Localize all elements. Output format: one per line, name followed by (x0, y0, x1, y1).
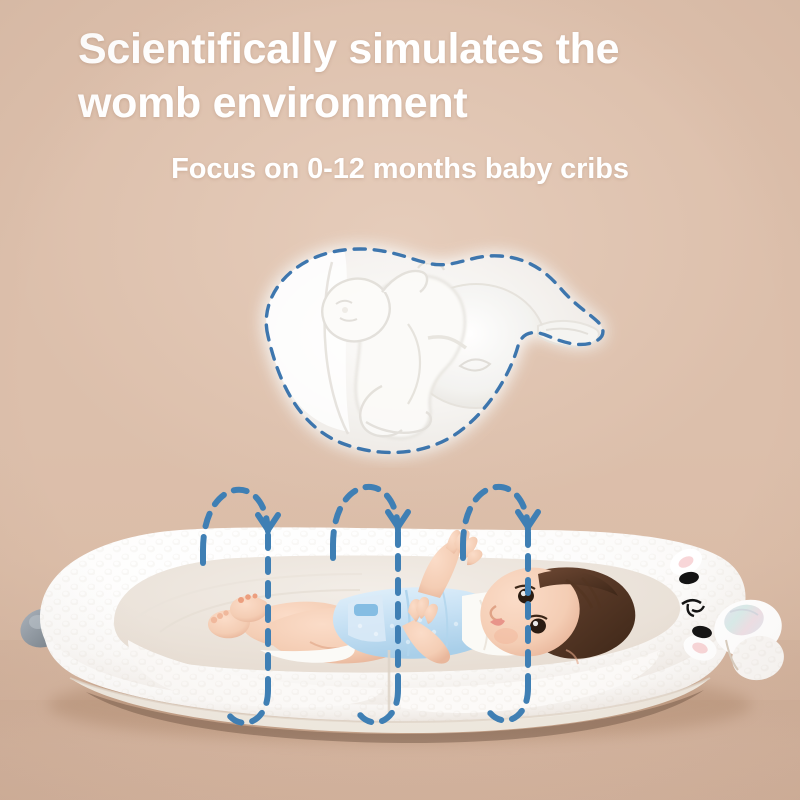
outfit-tag (354, 604, 378, 616)
page-title: Scientifically simulates the womb enviro… (78, 22, 738, 130)
product-poster: Scientifically simulates the womb enviro… (0, 0, 800, 800)
womb-diagram (232, 218, 632, 468)
crib-illustration (10, 500, 800, 770)
page-subtitle: Focus on 0-12 months baby cribs (0, 150, 800, 188)
